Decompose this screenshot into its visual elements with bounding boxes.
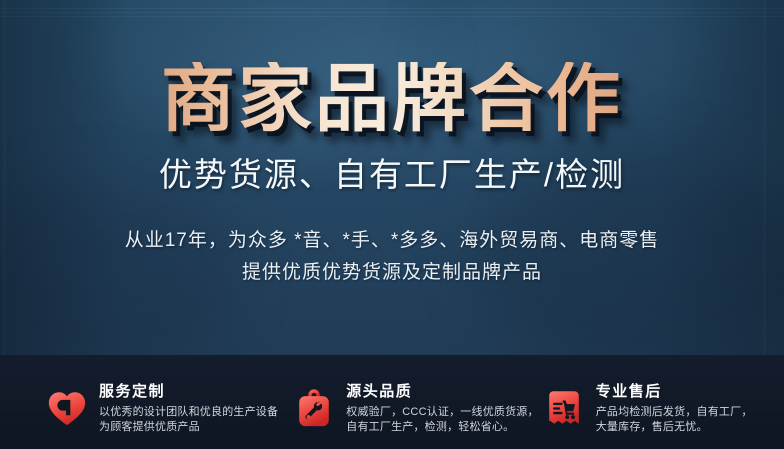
feature-desc-line: 为顾客提供优质产品 xyxy=(99,420,278,435)
tag-wrench-icon xyxy=(293,386,335,430)
feature-item-service-customization: 服务定制 以优秀的设计团队和优良的生产设备 为顾客提供优质产品 xyxy=(0,369,287,435)
feature-text: 专业售后 产品均检测后发货，自有工厂， 大量库存，售后无忧。 xyxy=(596,383,753,435)
hero-section: 商家品牌合作 优势货源、自有工厂生产/检测 从业17年，为众多 *音、*手、*多… xyxy=(0,0,784,355)
feature-desc-line: 大量库存，售后无忧。 xyxy=(596,420,753,435)
feature-title: 源头品质 xyxy=(346,383,538,401)
description-line: 提供优质优势货源及定制品牌产品 xyxy=(125,257,660,289)
page-title: 商家品牌合作 xyxy=(161,62,623,136)
feature-title: 服务定制 xyxy=(99,383,278,401)
feature-desc-line: 产品均检测后发货，自有工厂， xyxy=(596,405,753,420)
feature-bar: 服务定制 以优秀的设计团队和优良的生产设备 为顾客提供优质产品 xyxy=(0,355,784,449)
page-subtitle: 优势货源、自有工厂生产/检测 xyxy=(159,158,625,191)
feature-item-source-quality: 源头品质 权威验厂，CCC认证，一线优质货源， 自有工厂生产，检测，轻松省心。 xyxy=(287,369,538,435)
heart-icon xyxy=(46,386,88,430)
page-description: 从业17年，为众多 *音、*手、*多多、海外贸易商、电商零售 提供优质优势货源及… xyxy=(125,225,660,289)
feature-text: 服务定制 以优秀的设计团队和优良的生产设备 为顾客提供优质产品 xyxy=(99,383,278,435)
feature-item-after-sales: 专业售后 产品均检测后发货，自有工厂， 大量库存，售后无忧。 xyxy=(539,369,784,435)
feature-text: 源头品质 权威验厂，CCC认证，一线优质货源， 自有工厂生产，检测，轻松省心。 xyxy=(346,383,538,435)
promo-banner: 商家品牌合作 优势货源、自有工厂生产/检测 从业17年，为众多 *音、*手、*多… xyxy=(0,0,784,449)
feature-desc-line: 以优秀的设计团队和优良的生产设备 xyxy=(99,405,278,420)
feature-desc-line: 权威验厂，CCC认证，一线优质货源， xyxy=(346,405,538,420)
description-line: 从业17年，为众多 *音、*手、*多多、海外贸易商、电商零售 xyxy=(125,225,660,257)
feature-desc-line: 自有工厂生产，检测，轻松省心。 xyxy=(346,420,538,435)
feature-title: 专业售后 xyxy=(596,383,753,401)
receipt-cart-icon xyxy=(543,386,585,430)
